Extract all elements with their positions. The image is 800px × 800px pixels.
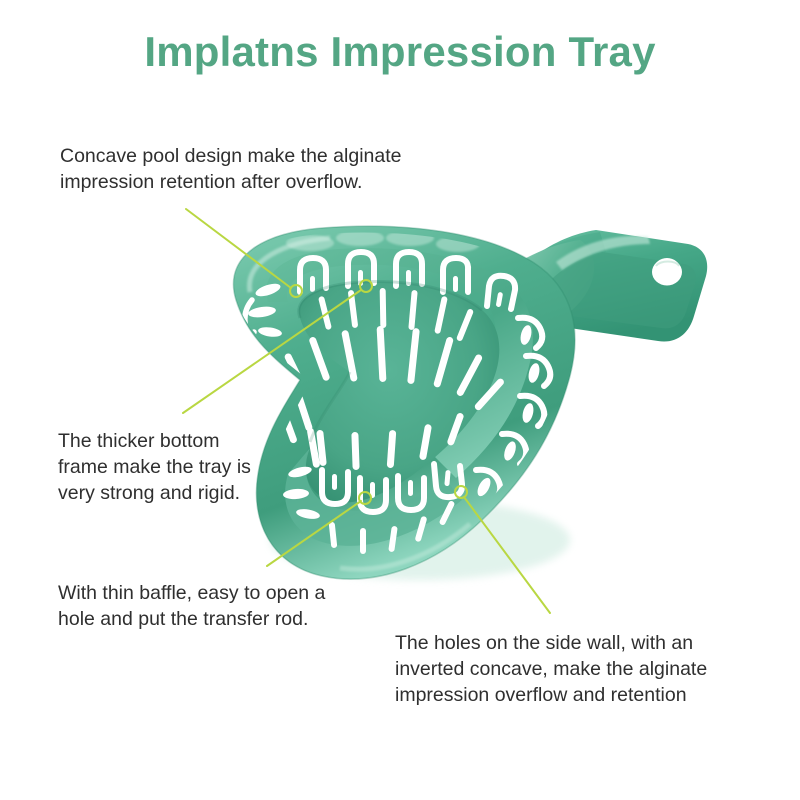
callout-text-thicker-bottom-frame: The thicker bottom frame make the tray i… [58, 428, 328, 506]
callout-text-side-wall-holes: The holes on the side wall, with an inve… [395, 630, 745, 708]
callout-text-concave-pool: Concave pool design make the alginate im… [60, 143, 490, 195]
infographic-page: Implatns Impression Tray [0, 0, 800, 800]
callout-text-thin-baffle: With thin baffle, easy to open a hole an… [58, 580, 388, 632]
